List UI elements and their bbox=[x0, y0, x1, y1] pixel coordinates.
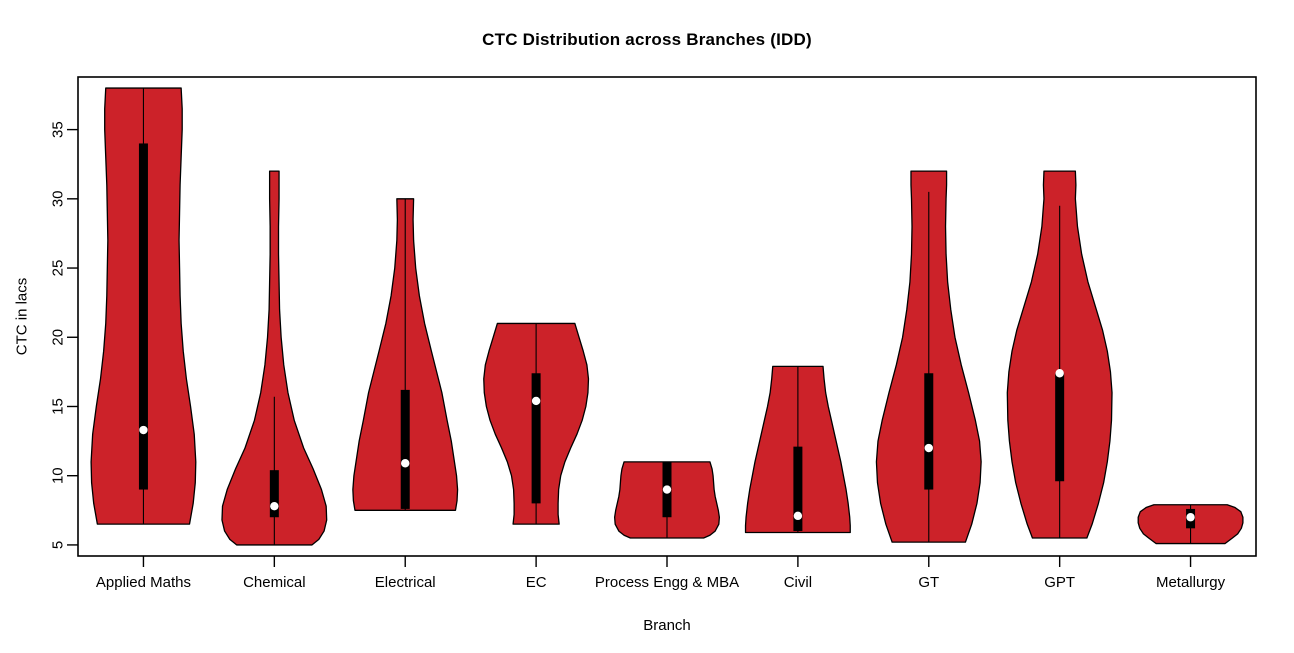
iqr-box bbox=[401, 390, 410, 509]
x-tick-label-electrical: Electrical bbox=[375, 574, 436, 591]
x-tick-label-ec: EC bbox=[526, 574, 547, 591]
iqr-box bbox=[139, 143, 148, 489]
iqr-box bbox=[1055, 373, 1064, 481]
x-tick-label-civil: Civil bbox=[784, 574, 812, 591]
violin-chemical[interactable] bbox=[222, 171, 327, 545]
y-axis-title: CTC in lacs bbox=[14, 278, 31, 356]
iqr-box bbox=[532, 373, 541, 503]
y-axis: 5101520253035 bbox=[50, 121, 79, 549]
median-marker bbox=[139, 426, 147, 434]
violin-civil[interactable] bbox=[746, 366, 851, 532]
median-marker bbox=[1055, 369, 1063, 377]
x-tick-label-chemical: Chemical bbox=[243, 574, 306, 591]
y-tick-label: 35 bbox=[50, 121, 67, 138]
iqr-box bbox=[924, 373, 933, 489]
median-marker bbox=[794, 512, 802, 520]
median-marker bbox=[663, 485, 671, 493]
violin-applied-maths[interactable] bbox=[91, 88, 196, 524]
violin-metallurgy[interactable] bbox=[1138, 505, 1243, 544]
violin-gt[interactable] bbox=[876, 171, 981, 542]
y-tick-label: 20 bbox=[50, 329, 67, 346]
y-tick-label: 5 bbox=[50, 541, 67, 549]
y-tick-label: 30 bbox=[50, 190, 67, 207]
chart-canvas: 5101520253035 Applied MathsChemicalElect… bbox=[0, 0, 1294, 653]
violin-series-group bbox=[91, 88, 1243, 545]
median-marker bbox=[401, 459, 409, 467]
violin-process-engg-mba[interactable] bbox=[615, 462, 720, 538]
x-tick-label-gpt: GPT bbox=[1044, 574, 1075, 591]
median-marker bbox=[1186, 513, 1194, 521]
violin-ec[interactable] bbox=[484, 323, 589, 524]
x-axis: Applied MathsChemicalElectricalECProcess… bbox=[96, 556, 1226, 591]
violin-plot-figure: CTC Distribution across Branches (IDD) 5… bbox=[0, 0, 1294, 653]
y-tick-label: 15 bbox=[50, 398, 67, 415]
y-tick-label: 10 bbox=[50, 467, 67, 484]
x-tick-label-gt: GT bbox=[918, 574, 939, 591]
x-tick-label-process-engg-mba: Process Engg & MBA bbox=[595, 574, 739, 591]
violin-electrical[interactable] bbox=[353, 199, 458, 510]
x-tick-label-metallurgy: Metallurgy bbox=[1156, 574, 1226, 591]
y-tick-label: 25 bbox=[50, 260, 67, 277]
x-axis-title: Branch bbox=[643, 617, 691, 634]
x-tick-label-applied-maths: Applied Maths bbox=[96, 574, 191, 591]
median-marker bbox=[532, 397, 540, 405]
violin-gpt[interactable] bbox=[1007, 171, 1112, 538]
median-marker bbox=[270, 502, 278, 510]
median-marker bbox=[925, 444, 933, 452]
